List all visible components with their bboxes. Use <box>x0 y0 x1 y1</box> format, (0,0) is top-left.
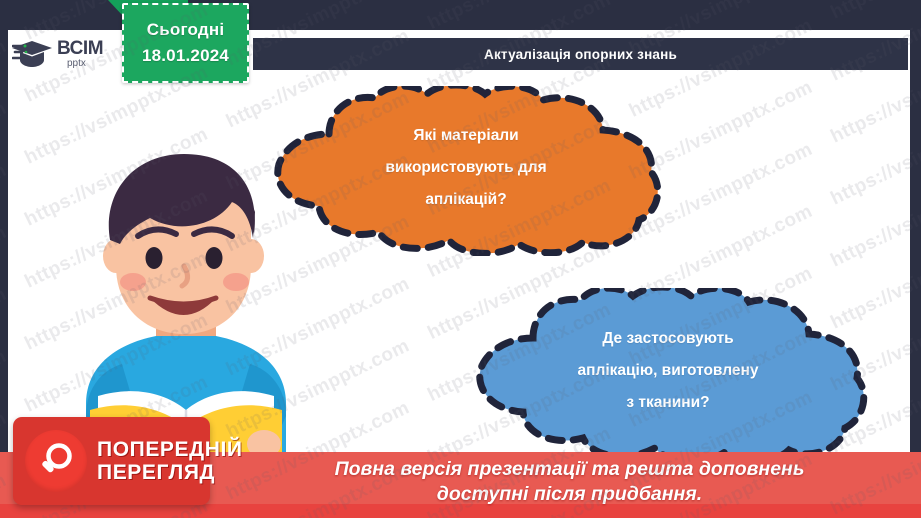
logo-subtitle: pptx <box>67 59 103 69</box>
preview-badge-line-1: ПОПЕРЕДНІЙ <box>97 439 243 460</box>
logo-wordmark: ВСІМ pptx <box>57 39 103 69</box>
today-date-card: Сьогодні 18.01.2024 <box>122 3 249 83</box>
brand-logo: ВСІМ pptx <box>8 30 112 78</box>
page-title: Актуалізація опорних знань <box>484 47 677 62</box>
slide-canvas: ВСІМ pptx Сьогодні 18.01.2024 Актуалізац… <box>0 0 921 518</box>
logo-name: ВСІМ <box>57 39 103 58</box>
date-value: 18.01.2024 <box>142 46 229 66</box>
date-label: Сьогодні <box>147 20 225 40</box>
preview-badge[interactable]: ПОПЕРЕДНІЙ ПЕРЕГЛЯД <box>13 417 210 505</box>
question-cloud-orange: Які матеріали використовують для аплікац… <box>263 86 669 256</box>
banner-line-2: доступні після придбання. <box>437 483 702 507</box>
preview-badge-labels: ПОПЕРЕДНІЙ ПЕРЕГЛЯД <box>97 439 243 484</box>
banner-line-1: Повна версія презентації та решта доповн… <box>335 458 805 482</box>
magnifier-icon <box>25 430 87 492</box>
header-title-bar: Актуалізація опорних знань <box>253 38 908 70</box>
preview-badge-line-2: ПЕРЕГЛЯД <box>97 462 243 483</box>
graduation-cap-icon <box>12 37 54 71</box>
banner-text: Повна версія презентації та решта доповн… <box>230 458 909 507</box>
question-cloud-blue: Де застосовують аплікацію, виготовлену з… <box>463 288 873 464</box>
